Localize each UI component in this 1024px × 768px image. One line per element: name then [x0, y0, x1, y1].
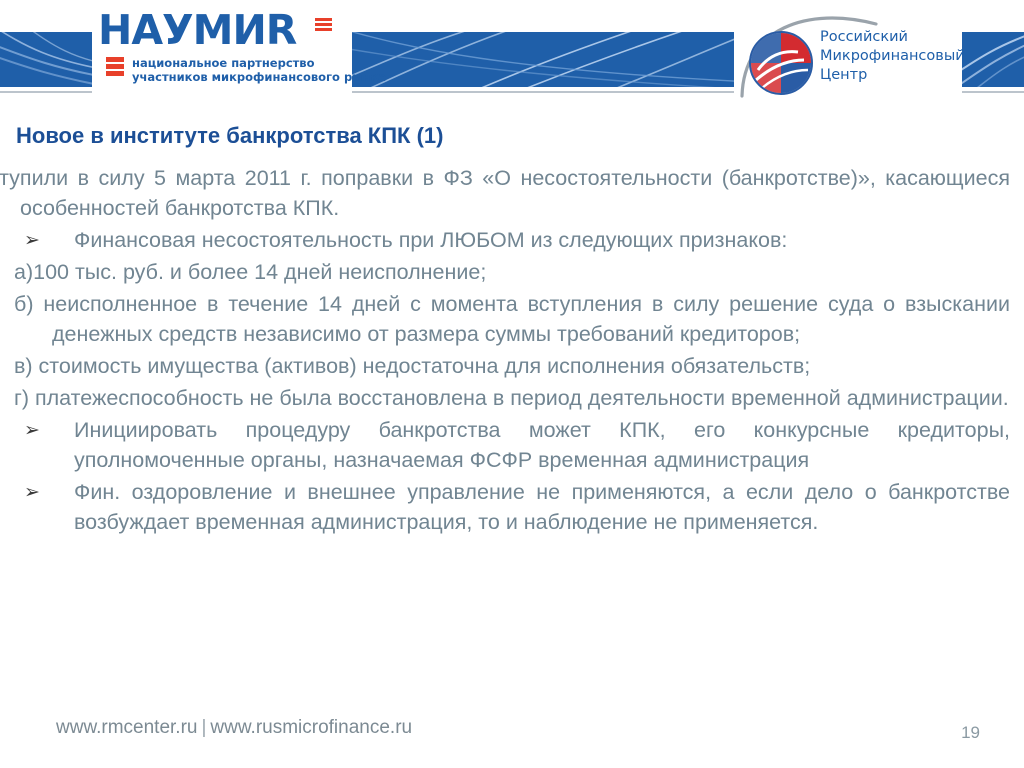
slide-header: НАУМИR национальное партнерство участник…: [0, 0, 1024, 100]
naumir-tagline-line1: национальное партнерство: [132, 56, 386, 70]
slide-content: Вступили в силу 5 марта 2011 г. поправки…: [14, 163, 1010, 537]
lettered-item-b: б) неисполненное в течение 14 дней с мом…: [14, 289, 1010, 349]
lettered-item-v: в) стоимость имущества (активов) недоста…: [14, 351, 1010, 381]
rmc-name-line1: Российский: [820, 28, 965, 47]
bullet-item-initiators: ➢ Инициировать процедуру банкротства мож…: [14, 415, 1010, 475]
header-rule-middle: [352, 91, 734, 93]
lettered-item-g: г) платежеспособность не была восстановл…: [14, 383, 1010, 413]
bullet-item-label: Инициировать процедуру банкротства может…: [74, 418, 1010, 472]
naumir-wordmark: НАУМИR: [98, 8, 348, 52]
arrow-bullet-icon: ➢: [24, 415, 40, 445]
page-number: 19: [961, 722, 980, 744]
bullet-item-criteria-intro: ➢ Финансовая несостоятельность при ЛЮБОМ…: [14, 225, 1010, 255]
rmc-name-line3: Центр: [820, 66, 965, 85]
header-band-right: [962, 32, 1024, 87]
footer-link-rusmicrofinance[interactable]: www.rusmicrofinance.ru: [210, 717, 412, 738]
naumir-red-bars-icon: [106, 57, 124, 83]
header-rule-right: [962, 91, 1024, 93]
header-band-middle: [352, 32, 734, 87]
naumir-accent-bars-icon: [315, 18, 332, 31]
arrow-bullet-icon: ➢: [24, 477, 40, 507]
rmc-name-line2: Микрофинансовый: [820, 47, 965, 66]
arrow-bullet-icon: ➢: [24, 225, 40, 255]
page-title: Новое в институте банкротства КПК (1): [16, 121, 443, 151]
bullet-item-procedures: ➢ Фин. оздоровление и внешнее управление…: [14, 477, 1010, 537]
rmc-logo: Российский Микрофинансовый Центр: [736, 2, 960, 98]
slide-footer: www.rmcenter.ru|www.rusmicrofinance.ru 1…: [0, 700, 1024, 768]
lettered-item-a: а)100 тыс. руб. и более 14 дней неисполн…: [14, 257, 1010, 287]
naumir-logo: НАУМИR национальное партнерство участник…: [98, 8, 348, 92]
footer-links: www.rmcenter.ru|www.rusmicrofinance.ru: [56, 716, 412, 740]
naumir-tagline-line2: участников микрофинансового рынка: [132, 70, 386, 84]
rmc-name: Российский Микрофинансовый Центр: [820, 28, 965, 85]
naumir-tagline: национальное партнерство участников микр…: [132, 56, 386, 84]
bullet-item-label: Фин. оздоровление и внешнее управление н…: [74, 480, 1010, 534]
paragraph-intro: Вступили в силу 5 марта 2011 г. поправки…: [14, 163, 1010, 223]
footer-separator: |: [197, 717, 210, 738]
header-band-left: [0, 32, 92, 87]
rmc-globe-icon: [748, 30, 814, 96]
footer-link-rmcenter[interactable]: www.rmcenter.ru: [56, 717, 197, 738]
bullet-item-label: Финансовая несостоятельность при ЛЮБОМ и…: [74, 228, 787, 252]
header-rule-left: [0, 91, 92, 93]
